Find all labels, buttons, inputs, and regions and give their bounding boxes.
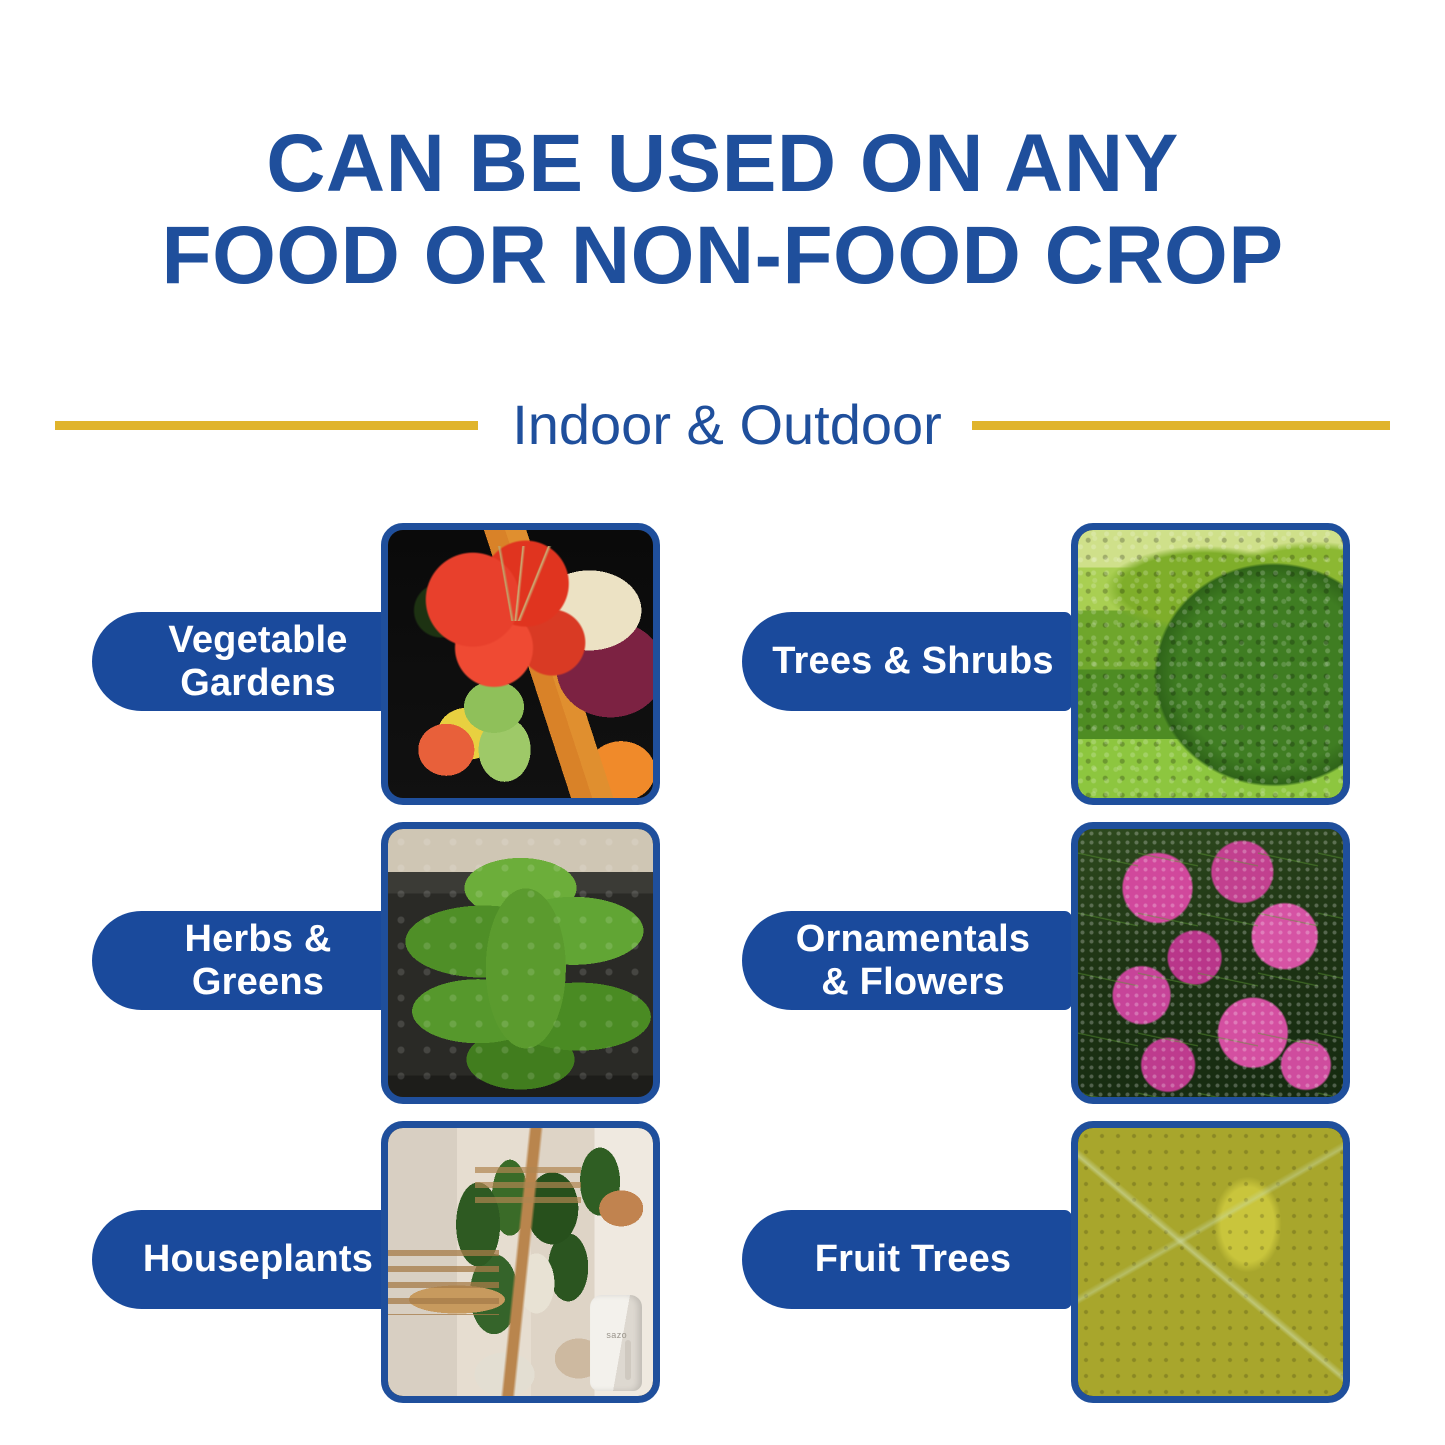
category-photo-card: [381, 523, 660, 805]
category-label-text: Vegetable Gardens: [168, 619, 347, 704]
category-photo-card: [1071, 523, 1350, 805]
gold-divider-left: [55, 421, 478, 430]
houseplants-photo: sazo: [388, 1128, 653, 1396]
flowers-photo: [1078, 829, 1343, 1097]
category-label-text: Houseplants: [143, 1238, 373, 1281]
category-label-text: Trees & Shrubs: [772, 640, 1054, 683]
category-photo-card: [1071, 822, 1350, 1104]
page-headline: CAN BE USED ON ANY FOOD OR NON-FOOD CROP: [0, 118, 1445, 302]
subtitle-row: Indoor & Outdoor: [0, 392, 1445, 458]
crop-category-grid: Vegetable Gardens Trees & Shrubs Herbs &…: [0, 523, 1445, 1403]
humidifier-slot: [625, 1340, 631, 1380]
humidifier-brand-text: sazo: [595, 1330, 639, 1340]
headline-line-1: CAN BE USED ON ANY: [0, 118, 1445, 210]
shrub-photo: [1078, 530, 1343, 798]
category-item-fruit-trees[interactable]: Fruit Trees: [690, 1121, 1350, 1403]
category-label-pill: Houseplants: [92, 1210, 412, 1309]
category-label-pill: Vegetable Gardens: [92, 612, 412, 711]
greens-photo: [388, 829, 653, 1097]
vegetables-photo: [388, 530, 653, 798]
category-item-ornamentals-flowers[interactable]: Ornamentals & Flowers: [690, 822, 1350, 1104]
category-item-herbs-greens[interactable]: Herbs & Greens: [0, 822, 660, 1104]
category-item-houseplants[interactable]: Houseplants sazo: [0, 1121, 660, 1403]
category-item-vegetable-gardens[interactable]: Vegetable Gardens: [0, 523, 660, 805]
category-label-pill: Herbs & Greens: [92, 911, 412, 1010]
category-item-trees-shrubs[interactable]: Trees & Shrubs: [690, 523, 1350, 805]
category-label-pill: Trees & Shrubs: [742, 612, 1072, 711]
pears-photo: [1078, 1128, 1343, 1396]
category-label-pill: Fruit Trees: [742, 1210, 1072, 1309]
headline-line-2: FOOD OR NON-FOOD CROP: [0, 210, 1445, 302]
category-photo-card: [381, 822, 660, 1104]
category-photo-card: [1071, 1121, 1350, 1403]
subtitle-text: Indoor & Outdoor: [512, 397, 942, 453]
category-label-text: Ornamentals & Flowers: [796, 918, 1031, 1003]
category-photo-card: sazo: [381, 1121, 660, 1403]
category-label-text: Herbs & Greens: [184, 918, 331, 1003]
category-label-text: Fruit Trees: [815, 1238, 1012, 1281]
category-label-pill: Ornamentals & Flowers: [742, 911, 1072, 1010]
gold-divider-right: [972, 421, 1390, 430]
